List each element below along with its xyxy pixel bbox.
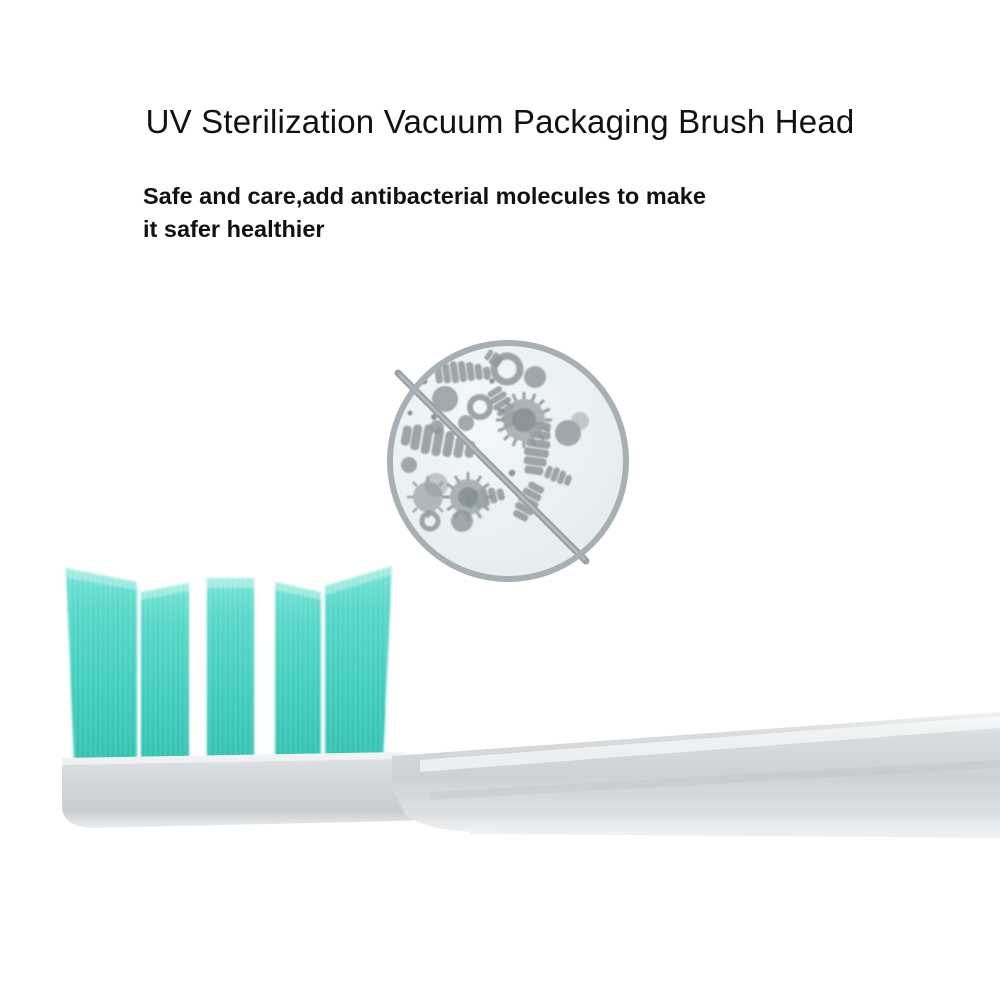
brush-head-base: [62, 752, 448, 828]
product-marketing-image: UV Sterilization Vacuum Packaging Brush …: [0, 0, 1000, 1000]
bristle-tuft-4: [275, 582, 321, 760]
bristle-group: [66, 566, 392, 760]
bristle-tuft-3: [207, 578, 254, 760]
bristle-tuft-2: [141, 583, 189, 760]
subtitle-line-2: it safer healthier: [143, 213, 883, 246]
subtitle-line-1: Safe and care,add antibacterial molecule…: [143, 180, 883, 213]
bristle-tuft-5: [325, 566, 392, 760]
bristle-tuft-1: [66, 568, 137, 760]
toothbrush-illustration: [0, 520, 1000, 920]
subtitle-block: Safe and care,add antibacterial molecule…: [143, 180, 883, 247]
page-title: UV Sterilization Vacuum Packaging Brush …: [0, 103, 1000, 141]
brush-handle: [392, 712, 1000, 838]
